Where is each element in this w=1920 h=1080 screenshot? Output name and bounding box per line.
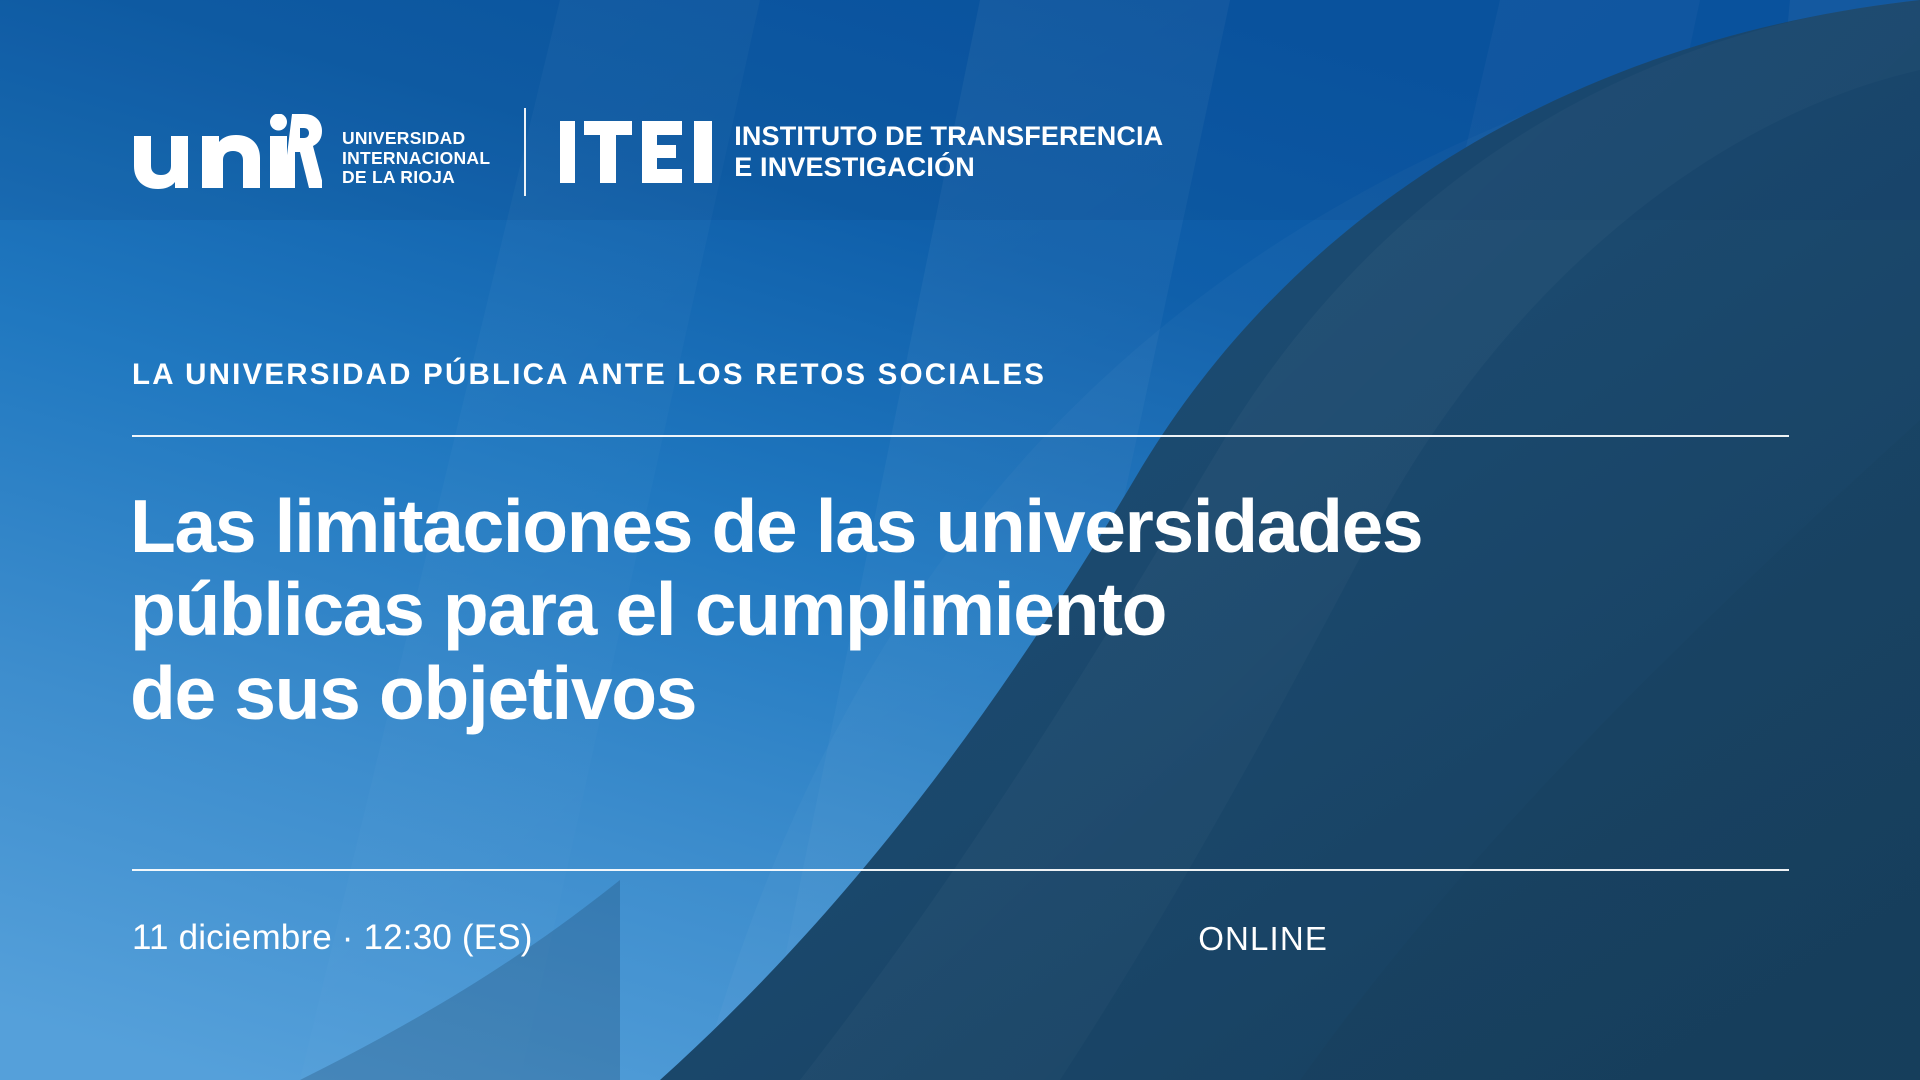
event-kicker: LA UNIVERSIDAD PÚBLICA ANTE LOS RETOS SO…: [132, 358, 1046, 392]
unir-logo: UNIVERSIDAD INTERNACIONAL DE LA RIOJA: [130, 114, 490, 190]
logo-separator: [524, 108, 526, 196]
itei-tagline: INSTITUTO DE TRANSFERENCIA E INVESTIGACI…: [734, 121, 1163, 184]
divider-bottom: [132, 869, 1789, 871]
event-datetime: 11 diciembre · 12:30 (ES): [132, 918, 533, 958]
unir-tagline: UNIVERSIDAD INTERNACIONAL DE LA RIOJA: [342, 129, 490, 188]
unir-tagline-line-3: DE LA RIOJA: [342, 167, 455, 187]
divider-top: [132, 435, 1789, 437]
itei-tagline-line-1: INSTITUTO DE TRANSFERENCIA: [734, 121, 1163, 151]
unir-tagline-line-2: INTERNACIONAL: [342, 148, 490, 168]
event-modality: ONLINE: [1198, 920, 1328, 958]
unir-tagline-line-1: UNIVERSIDAD: [342, 128, 465, 148]
event-title: Las limitaciones de las universidades pú…: [130, 485, 1422, 735]
event-title-line-2: públicas para el cumplimiento: [130, 568, 1422, 651]
itei-wordmark-icon: [560, 121, 712, 183]
event-title-line-1: Las limitaciones de las universidades: [130, 485, 1422, 568]
event-title-line-3: de sus objetivos: [130, 652, 1422, 735]
unir-wordmark-icon: [130, 114, 322, 190]
itei-logo: INSTITUTO DE TRANSFERENCIA E INVESTIGACI…: [560, 121, 1163, 184]
itei-tagline-line-2: E INVESTIGACIÓN: [734, 152, 975, 182]
logo-bar: UNIVERSIDAD INTERNACIONAL DE LA RIOJA: [130, 108, 1163, 196]
